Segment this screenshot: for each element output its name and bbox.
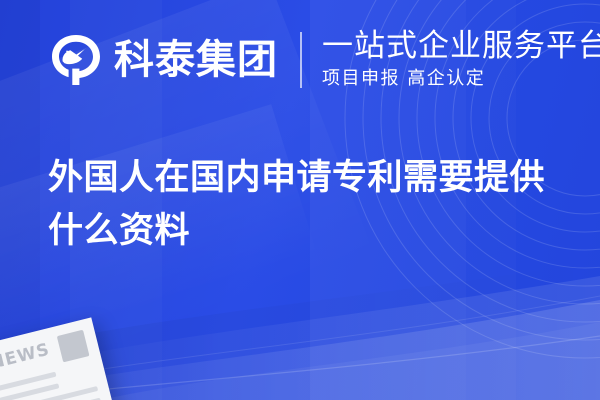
brand-name: 科泰集团 [114,40,278,80]
news-heading: NEWS [0,342,52,373]
ketai-antenna-logo-icon [48,32,104,88]
tagline-main: 一站式企业服务平台 [322,30,600,63]
page-title: 外国人在国内申请专利需要提供什么资料 [48,152,548,258]
tagline-group: 一站式企业服务平台 项目申报 高企认定 [322,30,600,90]
promo-banner: 科泰集团 一站式企业服务平台 项目申报 高企认定 外国人在国内申请专利需要提供什… [0,0,600,400]
brand-header: 科泰集团 一站式企业服务平台 项目申报 高企认定 [48,24,600,96]
news-thumbnail-icon [57,330,90,363]
news-header-row: NEWS [0,330,89,380]
header-divider [300,32,302,88]
tagline-sub: 项目申报 高企认定 [322,67,600,90]
